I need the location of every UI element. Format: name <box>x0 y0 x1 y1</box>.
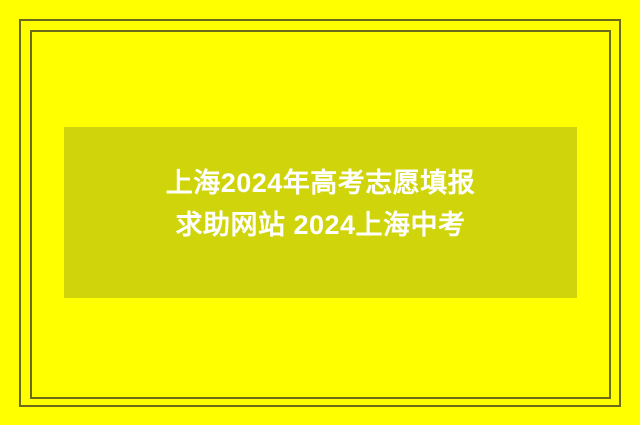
banner-canvas: 上海2024年高考志愿填报 求助网站 2024上海中考 <box>0 0 640 425</box>
headline-panel: 上海2024年高考志愿填报 求助网站 2024上海中考 <box>64 127 577 298</box>
headline-line-2: 求助网站 2024上海中考 <box>175 204 465 246</box>
headline-line-1: 上海2024年高考志愿填报 <box>166 162 476 204</box>
